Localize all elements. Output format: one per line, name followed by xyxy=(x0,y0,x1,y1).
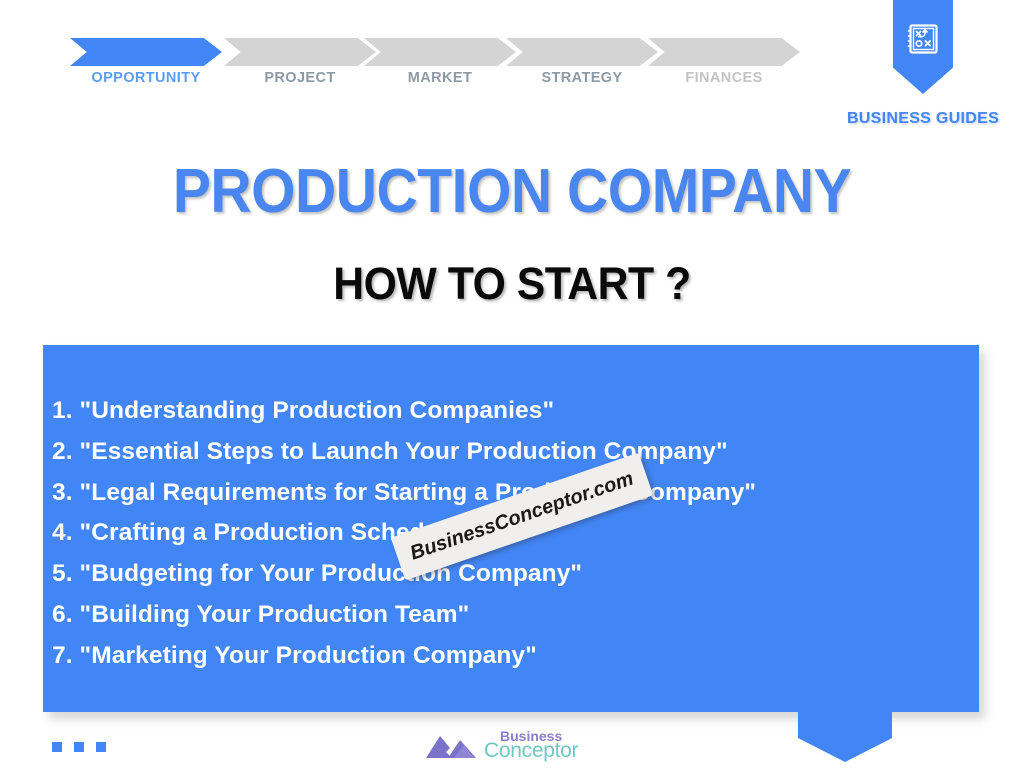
footer-logo: Business Conceptor xyxy=(424,726,600,766)
list-item: 7. "Marketing Your Production Company" xyxy=(52,636,972,677)
page-title: PRODUCTION COMPANY xyxy=(41,156,983,227)
progress-step-label-project: PROJECT xyxy=(224,70,376,86)
progress-step-project[interactable]: PROJECT xyxy=(224,38,376,66)
decorative-dots xyxy=(52,742,106,752)
progress-step-opportunity[interactable]: OPPORTUNITY xyxy=(70,38,222,66)
progress-step-label-market: MARKET xyxy=(364,70,516,86)
chevron-shape-project xyxy=(224,38,376,66)
progress-step-label-strategy: STRATEGY xyxy=(506,70,658,86)
list-item: 2. "Essential Steps to Launch Your Produ… xyxy=(52,432,972,473)
progress-steps-bar: OPPORTUNITY PROJECT MARKET STRATEGY FINA… xyxy=(0,0,1024,100)
dot-square-icon xyxy=(74,742,84,752)
progress-step-market[interactable]: MARKET xyxy=(364,38,516,66)
brand-name-label: BUSINESS GUIDES xyxy=(793,110,1024,128)
footer-logo-wordmark: Business Conceptor xyxy=(484,726,604,766)
mountain-logo-icon xyxy=(424,730,486,760)
list-item: 6. "Building Your Production Team" xyxy=(52,595,972,636)
dot-square-icon xyxy=(96,742,106,752)
chevron-shape-strategy xyxy=(506,38,658,66)
dot-square-icon xyxy=(52,742,62,752)
footer-logo-bottom-word: Conceptor xyxy=(484,739,578,763)
progress-step-label-opportunity: OPPORTUNITY xyxy=(70,70,222,86)
list-item: 5. "Budgeting for Your Production Compan… xyxy=(52,554,972,595)
progress-step-label-finances: FINANCES xyxy=(648,70,800,86)
chevron-shape-market xyxy=(364,38,516,66)
list-item: 1. "Understanding Production Companies" xyxy=(52,391,972,432)
chevron-shape-finances xyxy=(648,38,800,66)
strategy-playbook-icon xyxy=(906,22,940,56)
chevron-shape-opportunity xyxy=(70,38,222,66)
progress-step-finances[interactable]: FINANCES xyxy=(648,38,800,66)
page-subtitle: HOW TO START ? xyxy=(26,258,999,310)
brand-banner xyxy=(893,0,953,94)
progress-step-strategy[interactable]: STRATEGY xyxy=(506,38,658,66)
bottom-ribbon-shape xyxy=(798,705,892,762)
